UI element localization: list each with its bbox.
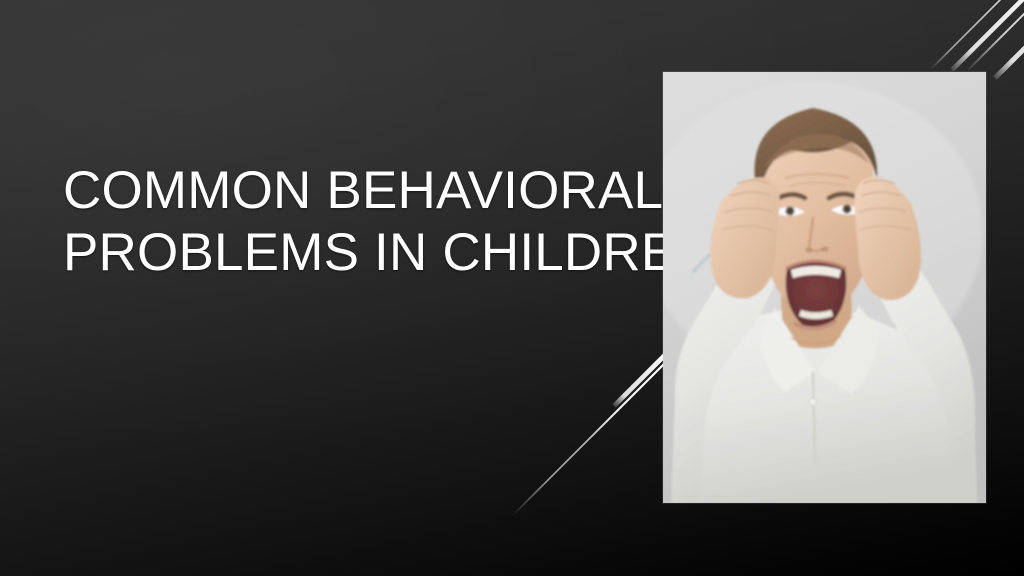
slide-canvas: COMMON BEHAVIORAL PROBLEMS IN CHILDREN [0,0,1024,576]
title-line-2: PROBLEMS IN CHILDREN [63,222,663,284]
title-line-1: COMMON BEHAVIORAL [63,160,663,222]
slide-image-screaming-child [663,72,986,503]
slide-title: COMMON BEHAVIORAL PROBLEMS IN CHILDREN [63,160,663,284]
